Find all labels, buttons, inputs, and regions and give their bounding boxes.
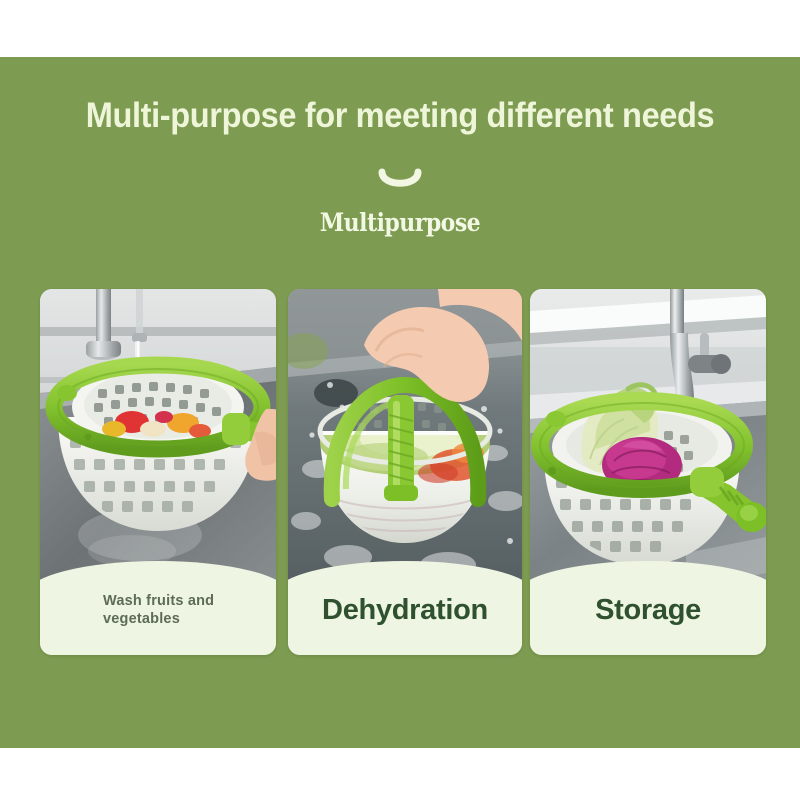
feature-card-dehydration[interactable]: Dehydration — [288, 289, 522, 655]
feature-card-storage[interactable]: Storage — [530, 289, 766, 655]
promo-banner-page: Multi-purpose for meeting different need… — [0, 0, 800, 800]
chevron-down-arc-icon — [0, 168, 800, 194]
subtitle-label: Multipurpose — [48, 208, 752, 237]
feature-card-wash[interactable]: Wash fruits and vegetables — [40, 289, 276, 655]
card-caption-storage: Storage — [530, 565, 766, 655]
page-title: Multi-purpose for meeting different need… — [28, 96, 772, 136]
card-caption-dehydration: Dehydration — [288, 565, 522, 655]
card-caption-wash: Wash fruits and vegetables — [40, 565, 276, 655]
photo-storage — [530, 289, 766, 589]
photo-wash-fruits-and-vegetables — [40, 289, 276, 589]
photo-dehydration — [288, 289, 522, 589]
